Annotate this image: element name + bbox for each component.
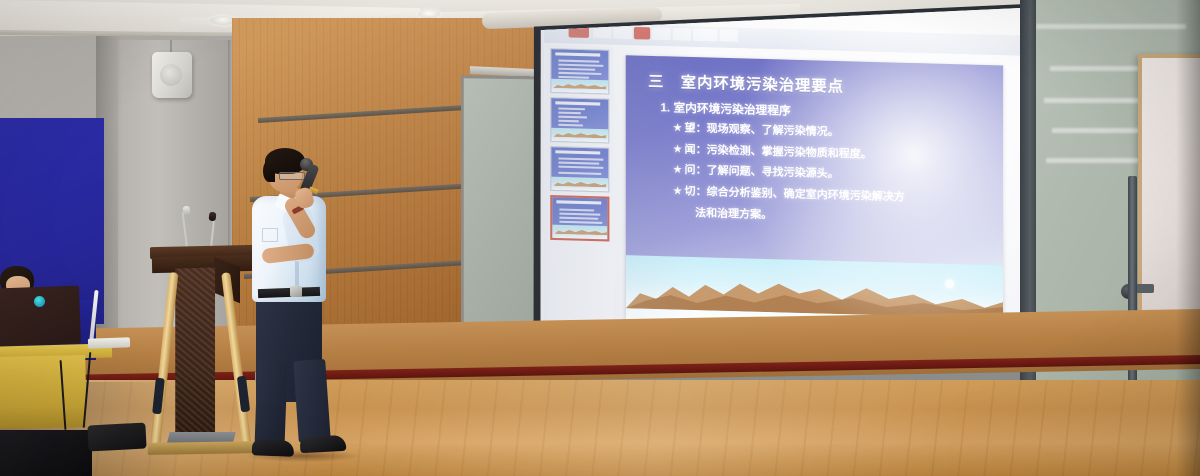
sun-icon — [945, 279, 954, 288]
slide-bullet-text: 闻：污染检测、掌握污染物质和程度。 — [685, 143, 872, 160]
ribbon-tab-active[interactable] — [634, 27, 650, 40]
thumbnail-line — [559, 213, 600, 216]
presenter-hair-side — [263, 160, 275, 182]
thumbnail-line — [558, 112, 580, 114]
presenter-leg-left — [254, 360, 287, 449]
thumbnail-line — [558, 124, 582, 126]
podium-microphone-head — [209, 212, 217, 222]
presenter-shirt-pocket — [262, 228, 278, 242]
ribbon-tab[interactable] — [693, 29, 717, 42]
thumbnail-line — [558, 116, 587, 118]
slide-bullet-text: 切：综合分析鉴别、确定室内环境污染解决方 — [685, 185, 905, 203]
star-icon: ★ — [673, 143, 683, 156]
slide-bullet-list: ★望：现场观察、了解污染情况。 ★闻：污染检测、掌握污染物质和程度。 ★问：了解… — [673, 122, 991, 236]
thumbnail-line — [558, 68, 595, 71]
thumbnail-title-bar — [555, 52, 600, 56]
network-router — [88, 337, 130, 348]
thumbnail-line — [558, 60, 599, 63]
ribbon-tab[interactable] — [613, 26, 631, 39]
slide-subtitle: 1. 室内环境污染治理程序 — [660, 99, 790, 119]
ribbon-tab[interactable] — [673, 28, 691, 41]
glass-reflection — [1036, 24, 1186, 29]
right-edge-shadow — [1176, 0, 1200, 476]
thumbnail-line — [558, 166, 603, 169]
slide-title: 三 室内环境污染治理要点 — [648, 70, 844, 97]
whiteboard-arm — [1136, 284, 1154, 293]
presenter-belt-buckle — [290, 286, 302, 297]
slide-thumbnail-selected[interactable] — [550, 195, 609, 241]
slide-thumbnail-pane[interactable] — [546, 45, 613, 339]
presenter-leg-right — [293, 359, 331, 443]
slide-bullet-text: 问：了解问题、寻找污染源头。 — [685, 164, 839, 180]
equipment-case — [0, 430, 92, 476]
thumbnail-title-bar — [556, 200, 601, 204]
slide-thumbnail[interactable] — [550, 146, 609, 192]
ribbon-tab[interactable] — [593, 26, 611, 39]
laptop[interactable] — [0, 286, 81, 347]
slide-bullet-text: 望：现场观察、了解污染情况。 — [685, 122, 839, 138]
thumbnail-line — [558, 157, 603, 160]
laptop-logo-icon — [34, 296, 45, 307]
speaker-cone-icon — [160, 64, 182, 86]
star-icon: ★ — [673, 122, 683, 135]
star-icon: ★ — [673, 164, 683, 177]
slide-bullet: ★问：了解问题、寻找污染源头。 — [673, 164, 991, 186]
podium-base — [147, 441, 258, 455]
slide-bullet: ★切：综合分析鉴别、确定室内环境污染解决方 — [673, 185, 991, 207]
slide-thumbnail[interactable] — [550, 48, 609, 94]
ceiling-downlight — [418, 10, 440, 18]
glasses-icon — [279, 172, 305, 180]
thumbnail-mountain-graphic — [551, 128, 608, 143]
presenter-shoe-right — [300, 435, 347, 453]
star-icon: ★ — [673, 185, 683, 198]
thumbnail-mountain-graphic — [551, 177, 608, 192]
lecture-hall-scene: 三 室内环境污染治理要点 1. 室内环境污染治理程序 ★望：现场观察、了解污染情… — [0, 0, 1200, 476]
thumbnail-mountain-graphic — [552, 225, 607, 240]
podium-body — [175, 267, 215, 450]
thumbnail-line — [558, 64, 603, 67]
operator-table-front — [0, 355, 87, 429]
thumbnail-line — [558, 72, 601, 75]
thumbnail-line — [559, 221, 602, 224]
thumbnail-line — [558, 120, 578, 122]
active-slide[interactable]: 三 室内环境污染治理要点 1. 室内环境污染治理程序 ★望：现场观察、了解污染情… — [626, 55, 1003, 332]
thumbnail-title-bar — [555, 150, 600, 154]
ribbon-tab[interactable] — [720, 29, 738, 42]
thumbnail-line — [559, 208, 594, 211]
ribbon-tab[interactable] — [652, 27, 670, 40]
slide-bullet: ★望：现场观察、了解污染情况。 — [673, 122, 991, 144]
thumbnail-line — [559, 217, 598, 220]
podium-microphone-head — [182, 206, 190, 216]
thumbnail-title-bar — [555, 101, 600, 105]
thumbnail-line — [558, 172, 601, 175]
thumbnail-line — [558, 162, 599, 165]
thumbnail-line — [558, 107, 585, 109]
slide-thumbnail[interactable] — [550, 97, 609, 143]
slide-bullet-continuation: 法和治理方案。 — [695, 207, 991, 228]
slide-bullet: ★闻：污染检测、掌握污染物质和程度。 — [673, 143, 991, 165]
thumbnail-line — [558, 76, 589, 78]
thumbnail-mountain-graphic — [551, 79, 608, 94]
presenter-shoe-left — [252, 439, 295, 456]
